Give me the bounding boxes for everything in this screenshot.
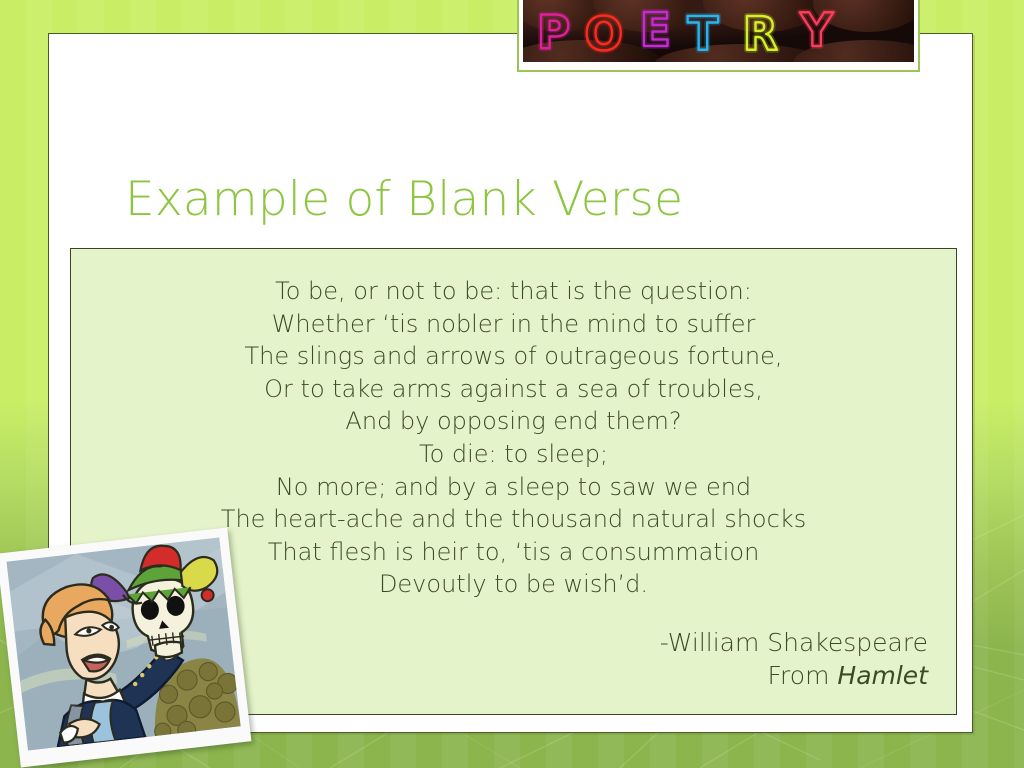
poem-line: And by opposing end them? — [71, 405, 956, 438]
attribution-work-title: Hamlet — [837, 661, 928, 690]
poem-line: Whether ‘tis nobler in the mind to suffe… — [71, 308, 956, 341]
attribution-author: -William Shakespeare — [660, 626, 928, 659]
poetry-neon-image: P O E T R Y P O E T R Y — [517, 0, 920, 72]
svg-text:T: T — [687, 8, 718, 61]
attribution-prefix: From — [768, 661, 838, 690]
poetry-letters: P O E T R Y P O E T R Y — [523, 0, 914, 62]
poem-line: No more; and by a sleep to saw we end — [71, 471, 956, 504]
poem-line: The slings and arrows of outrageous fort… — [71, 340, 956, 373]
svg-text:R: R — [743, 8, 778, 61]
svg-text:P: P — [537, 6, 570, 59]
hamlet-yorick-artwork — [7, 538, 241, 751]
poem-line: To be, or not to be: that is the questio… — [71, 275, 956, 308]
hamlet-yorick-cartoon — [0, 528, 251, 768]
attribution-source: From Hamlet — [660, 659, 928, 692]
slide-canvas: Example of Blank Verse P O E T R Y — [0, 0, 1024, 768]
svg-text:O: O — [584, 8, 623, 61]
svg-text:E: E — [640, 4, 671, 57]
attribution: -William Shakespeare From Hamlet — [660, 626, 928, 692]
poem-line: To die: to sleep; — [71, 438, 956, 471]
page-title: Example of Blank Verse — [125, 172, 885, 228]
poetry-neon-artwork: P O E T R Y P O E T R Y — [523, 0, 914, 62]
poem-line: Or to take arms against a sea of trouble… — [71, 373, 956, 406]
svg-text:Y: Y — [799, 4, 834, 57]
